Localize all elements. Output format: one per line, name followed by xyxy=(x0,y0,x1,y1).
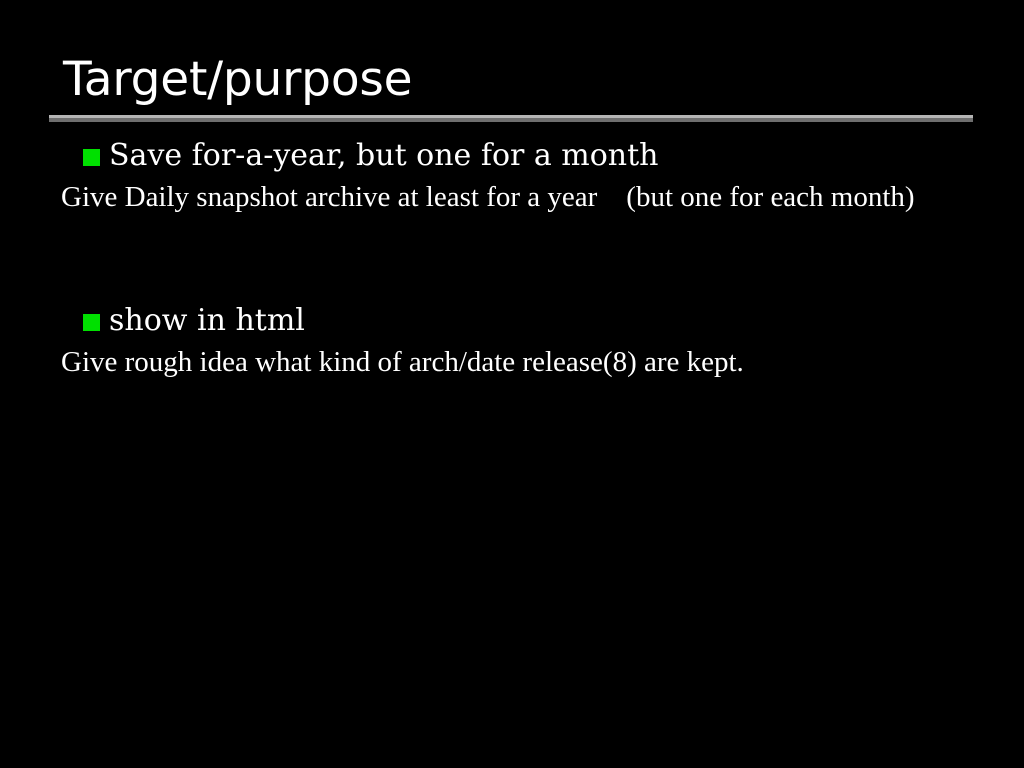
title-divider xyxy=(49,115,973,122)
slide-content: Save for-a-year, but one for a month Giv… xyxy=(0,136,1024,380)
bullet-item-label: show in html xyxy=(109,303,305,339)
bullet-item: show in html xyxy=(0,301,1024,341)
presentation-slide: Target/purpose Save for-a-year, but one … xyxy=(0,0,1024,768)
title-divider-shadow xyxy=(49,118,973,122)
bullet-item-label: Save for-a-year, but one for a month xyxy=(109,138,659,174)
square-bullet-icon xyxy=(83,149,100,166)
body-paragraph: Give Daily snapshot archive at least for… xyxy=(0,179,1021,215)
title-block: Target/purpose xyxy=(49,52,974,108)
bullet-item: Save for-a-year, but one for a month xyxy=(0,136,1024,176)
square-bullet-icon xyxy=(83,314,100,331)
content-section-1: Save for-a-year, but one for a month Giv… xyxy=(0,136,1024,215)
content-section-2: show in html Give rough idea what kind o… xyxy=(0,301,1024,380)
body-paragraph: Give rough idea what kind of arch/date r… xyxy=(0,344,1021,380)
page-title: Target/purpose xyxy=(49,52,974,108)
